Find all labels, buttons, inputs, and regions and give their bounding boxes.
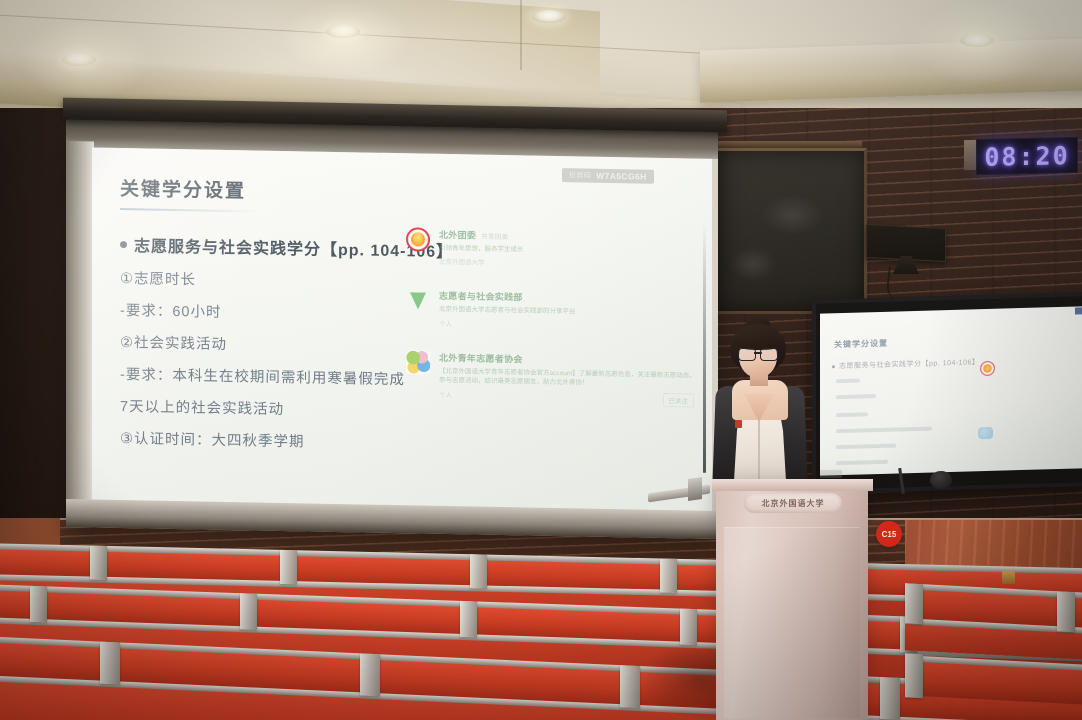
screencast-code-badge: 投屏码 W7A5CG6H (562, 168, 654, 184)
screencast-code-label: 投屏码 (569, 170, 591, 180)
wechat-account-badge: 共青团委 (481, 231, 508, 241)
tv-text-ghost (836, 444, 896, 450)
desk-divider-post (280, 550, 297, 584)
wechat-account-desc: 北京外国语大学志愿者与社会实践部的分享平台 (439, 305, 698, 319)
lapel-pin (735, 420, 742, 428)
tv-status-bar (1075, 307, 1082, 314)
wechat-account-row: 北外团委 共青团委 引领青年思想，服务学生成长 北京外国语大学 (406, 227, 698, 271)
volunteer-flower-icon (406, 350, 430, 374)
tv-brand-logo (820, 470, 842, 478)
seat-number-sticker: C15 (876, 521, 902, 547)
wechat-account-desc: 【北京外国语大学青年志愿者协会官方account】了解最新志愿信息，关注最新志愿… (439, 367, 698, 391)
downlight-icon (532, 10, 566, 23)
volunteer-flower-icon (978, 427, 993, 439)
desk-divider-post (905, 653, 923, 698)
wechat-account-name-row: 北外团委 共青团委 (439, 228, 698, 246)
wechat-follow-button[interactable]: 已关注 (663, 393, 695, 408)
desk-divider-post (240, 593, 257, 630)
podium-nameplate: 北京外国语大学 (744, 493, 842, 513)
tv-slide-title: 关键学分设置 (834, 338, 888, 351)
desk-divider-post (90, 546, 107, 580)
slide-title-underline (120, 208, 260, 213)
wechat-account-row: 北外青年志愿者协会 【北京外国语大学青年志愿者协会官方account】了解最新志… (406, 350, 698, 403)
desk-divider-post (360, 653, 380, 696)
tv-text-ghost (836, 460, 888, 465)
desk-divider-post (30, 586, 47, 623)
ceiling-seam (520, 0, 522, 70)
wechat-account-meta: 志愿者与社会实践部 北京外国语大学志愿者与社会实践部的分享平台 个人 (439, 289, 698, 332)
downlight-icon (326, 25, 360, 38)
wall-emblem-icon (1002, 571, 1015, 584)
tv-text-ghost (836, 394, 876, 399)
wechat-account-sub: 个人 (439, 389, 698, 404)
downlight-icon (62, 53, 96, 66)
projector-mount-bracket (688, 477, 702, 501)
wechat-account-sub: 北京外国语大学 (439, 256, 698, 271)
eyeglasses-bridge (754, 352, 762, 354)
tv-text-ghost (836, 412, 868, 417)
dress-seam (758, 420, 760, 482)
bullet-dot-icon (120, 241, 127, 248)
bfsu-emblem-icon (980, 361, 995, 376)
desk-divider-post (460, 601, 477, 638)
tv-text-ghost (836, 427, 932, 434)
chalk-smudge (762, 195, 822, 235)
desk-row (0, 542, 1082, 570)
chalk-smudge (730, 247, 776, 281)
wechat-accounts-panel: 北外团委 共青团委 引领青年思想，服务学生成长 北京外国语大学 志愿者与社会实践… (406, 227, 698, 426)
screencast-code-value: W7A5CG6H (596, 171, 646, 182)
clock-time: 08:20 (984, 141, 1069, 172)
screen-left-edge (66, 141, 94, 528)
wechat-account-name-row: 北外青年志愿者协会 (439, 351, 698, 369)
wechat-account-desc: 引领青年思想，服务学生成长 (439, 244, 698, 258)
desk-divider-post (660, 558, 677, 592)
wechat-account-meta: 北外团委 共青团委 引领青年思想，服务学生成长 北京外国语大学 (439, 228, 698, 271)
wechat-account-sub: 个人 (439, 318, 698, 333)
eyeglasses-icon (738, 348, 778, 360)
slide-content: 关键学分设置 志愿服务与社会实践学分【pp. 104-106】 ①志愿时长 -要… (92, 148, 712, 513)
tv-stand (930, 471, 952, 489)
desk-divider-post (905, 583, 923, 624)
lecture-hall-photo: 08:20 投屏码 W7A5CG6H 关键学分设置 志愿服务与社会实践学分【pp… (0, 0, 1082, 720)
side-display-tv: 关键学分设置 志愿服务与社会实践学分【pp. 104-106】 (812, 292, 1082, 494)
projection-screen: 投屏码 W7A5CG6H 关键学分设置 志愿服务与社会实践学分【pp. 104-… (66, 115, 718, 539)
foreground-desk-group (905, 583, 1082, 720)
tv-slide-bullet-text: 志愿服务与社会实践学分【pp. 104-106】 (839, 357, 979, 371)
seat-number-label: C15 (882, 530, 897, 539)
desk-divider-post (620, 665, 640, 708)
wechat-account-row: 志愿者与社会实践部 北京外国语大学志愿者与社会实践部的分享平台 个人 (406, 289, 698, 333)
tv-slide-bullet: 志愿服务与社会实践学分【pp. 104-106】 (832, 357, 979, 371)
podium-nameplate-text: 北京外国语大学 (762, 498, 825, 509)
podium-top-surface (712, 479, 873, 491)
desk-divider-post (470, 554, 487, 588)
led-wall-clock: 08:20 (976, 137, 1078, 175)
wechat-account-name: 北外青年志愿者协会 (439, 351, 523, 366)
bfsu-emblem-icon (406, 227, 430, 251)
tv-screen: 关键学分设置 志愿服务与社会实践学分【pp. 104-106】 (820, 306, 1082, 475)
volunteer-v-icon (406, 289, 430, 313)
podium-front-face (724, 527, 860, 718)
blackboard (713, 148, 867, 314)
wechat-account-name: 志愿者与社会实践部 (439, 289, 523, 304)
tv-text-ghost (836, 379, 860, 384)
bullet-dot-icon (832, 365, 835, 368)
wechat-account-name-row: 志愿者与社会实践部 (439, 289, 698, 307)
desk-divider-post (1057, 591, 1075, 632)
projected-slide: 投屏码 W7A5CG6H 关键学分设置 志愿服务与社会实践学分【pp. 104-… (92, 148, 712, 513)
desk-divider-post (880, 677, 900, 720)
lectern-podium: 北京外国语大学 (716, 483, 868, 720)
presenter (706, 316, 814, 496)
hair-bangs (734, 330, 784, 350)
slide-line: ③认证时间：大四秋季学期 (120, 427, 692, 458)
wechat-account-meta: 北外青年志愿者协会 【北京外国语大学青年志愿者协会官方account】了解最新志… (439, 351, 698, 404)
chalk-tray (710, 141, 862, 148)
wechat-account-name: 北外团委 (439, 228, 476, 242)
desk-divider-post (100, 642, 120, 685)
downlight-icon (960, 34, 994, 47)
